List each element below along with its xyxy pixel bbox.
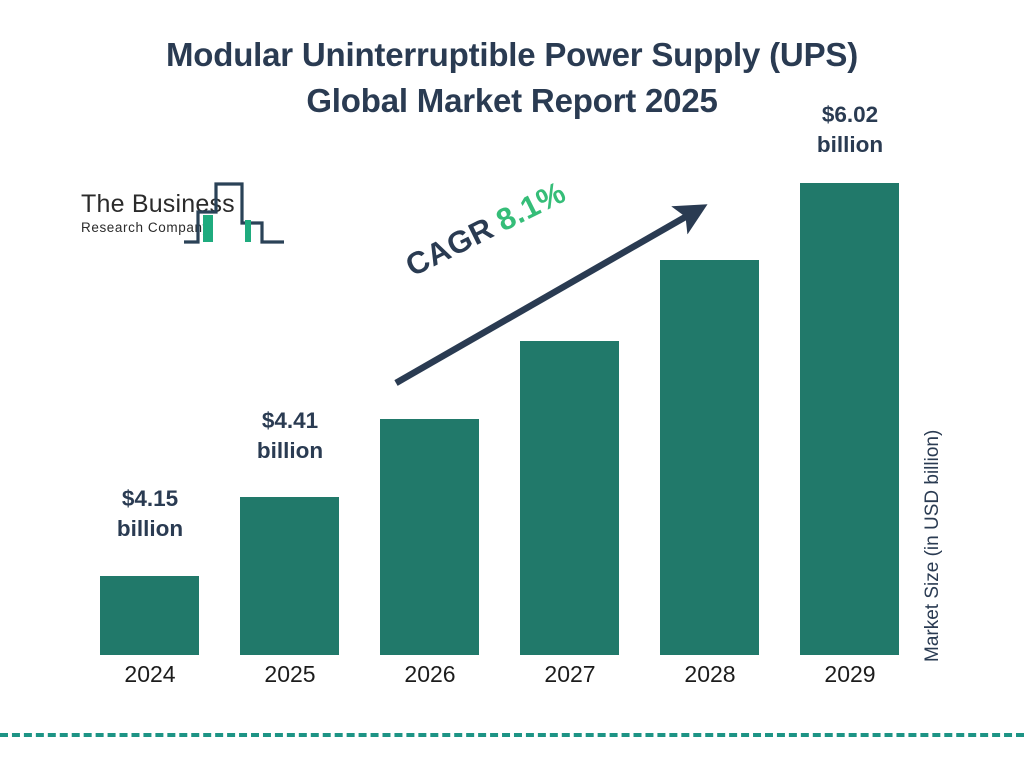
bar-value-amount-2025: $4.41: [230, 406, 350, 436]
page-title: Modular Uninterruptible Power Supply (UP…: [62, 32, 962, 123]
company-logo: The Business Research Company: [78, 176, 283, 248]
x-tick-label-2029: 2029: [790, 661, 910, 688]
bar-chart-skyline-logo-icon: [184, 176, 284, 253]
bar-2027: [520, 341, 619, 655]
y-axis-title-text: Market Size (in USD billion): [922, 322, 944, 662]
bar-value-unit-2029: billion: [790, 130, 910, 160]
bar-2024: [100, 576, 199, 655]
bar-value-unit-2024: billion: [90, 514, 210, 544]
bar-2025: [240, 497, 339, 655]
x-tick-label-2024: 2024: [90, 661, 210, 688]
cagr-value: 8.1%: [491, 174, 572, 238]
bar-2026: [380, 419, 479, 655]
x-tick-label-2025: 2025: [230, 661, 350, 688]
cagr-annotation: CAGR8.1%: [400, 174, 572, 284]
bar-value-label-2024: $4.15 billion: [90, 484, 210, 544]
bar-value-amount-2024: $4.15: [90, 484, 210, 514]
bar-2029: [800, 183, 899, 655]
x-tick-label-2026: 2026: [370, 661, 490, 688]
footer-dashed-divider: [0, 733, 1024, 737]
page-title-line-1: Modular Uninterruptible Power Supply (UP…: [62, 32, 962, 78]
page-title-line-2: Global Market Report 2025: [62, 78, 962, 124]
bar-value-label-2025: $4.41 billion: [230, 406, 350, 466]
bar-value-unit-2025: billion: [230, 436, 350, 466]
x-tick-label-2028: 2028: [650, 661, 770, 688]
bar-2028: [660, 260, 759, 655]
cagr-label-word: CAGR: [400, 210, 499, 283]
x-tick-label-2027: 2027: [510, 661, 630, 688]
